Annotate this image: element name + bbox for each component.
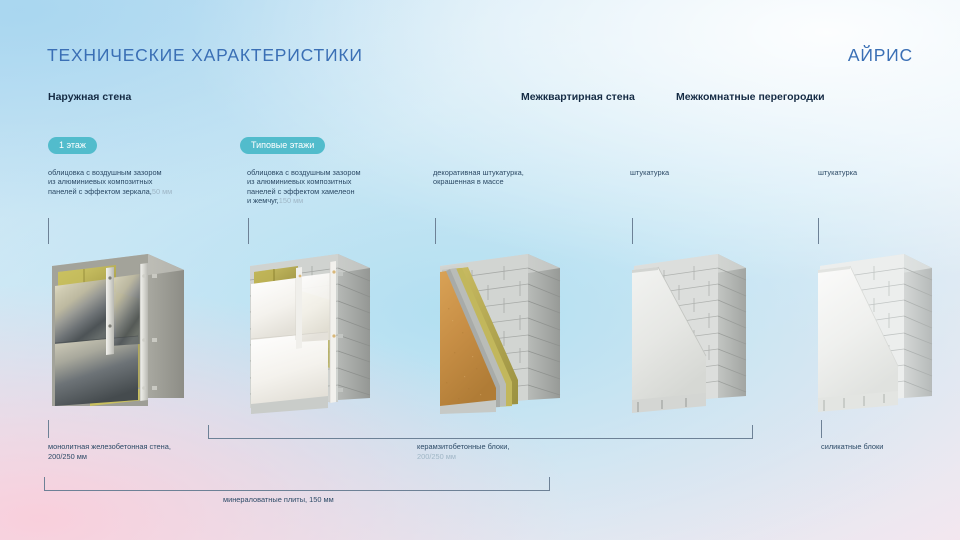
leader-tick-top-5 — [818, 218, 819, 244]
brand-logo-text: АЙРИС — [848, 45, 913, 66]
leader-tick-bottom-silicate — [821, 420, 822, 438]
column-description-decor-plaster: декоративная штукатурка, окрашенная в ма… — [433, 168, 593, 187]
column-description-chameleon-acp: облицовка с воздушным зазором из алюмини… — [247, 168, 397, 206]
bottom-label-mineral-wool-boards: минераловатные плиты, 150 мм — [223, 495, 483, 505]
group-heading-outer-wall: Наружная стена — [48, 91, 131, 103]
wall-section-render-decor-plaster — [428, 248, 568, 414]
wall-section-render-plaster-inter-apartment — [624, 248, 754, 414]
group-heading-inter-apartment: Межквартирная стена — [521, 91, 635, 103]
wall-section-render-chameleon-acp — [238, 248, 378, 414]
column-description-plaster-inter-apartment: штукатурка — [630, 168, 780, 177]
badge-floor-1: 1 этаж — [48, 137, 97, 154]
leader-tick-top-2 — [248, 218, 249, 244]
bottom-label-silicate-blocks: силикатные блоки — [821, 442, 960, 452]
leader-tick-top-4 — [632, 218, 633, 244]
bottom-label-expanded-clay-blocks: керамзитобетонные блоки,200/250 мм — [417, 442, 617, 461]
column-description-plaster-inter-room: штукатурка — [818, 168, 960, 177]
page-title: ТЕХНИЧЕСКИЕ ХАРАКТЕРИСТИКИ — [47, 45, 363, 66]
leader-tick-top-1 — [48, 218, 49, 244]
slide-canvas: ТЕХНИЧЕСКИЕ ХАРАКТЕРИСТИКИ АЙРИС Наружна… — [0, 0, 960, 540]
leader-tick-top-3 — [435, 218, 436, 244]
leader-tick-bottom-monolithic — [48, 420, 49, 438]
bottom-label-monolithic-rc-wall: монолитная железобетонная стена, 200/250… — [48, 442, 248, 461]
column-description-mirror-acp: облицовка с воздушным зазором из алюмини… — [48, 168, 198, 196]
wall-section-render-plaster-inter-room — [810, 248, 940, 414]
group-heading-inter-room: Межкомнатные перегородки — [676, 91, 825, 103]
badge-typical-floors: Типовые этажи — [240, 137, 325, 154]
wall-section-render-mirror-acp — [44, 248, 194, 414]
